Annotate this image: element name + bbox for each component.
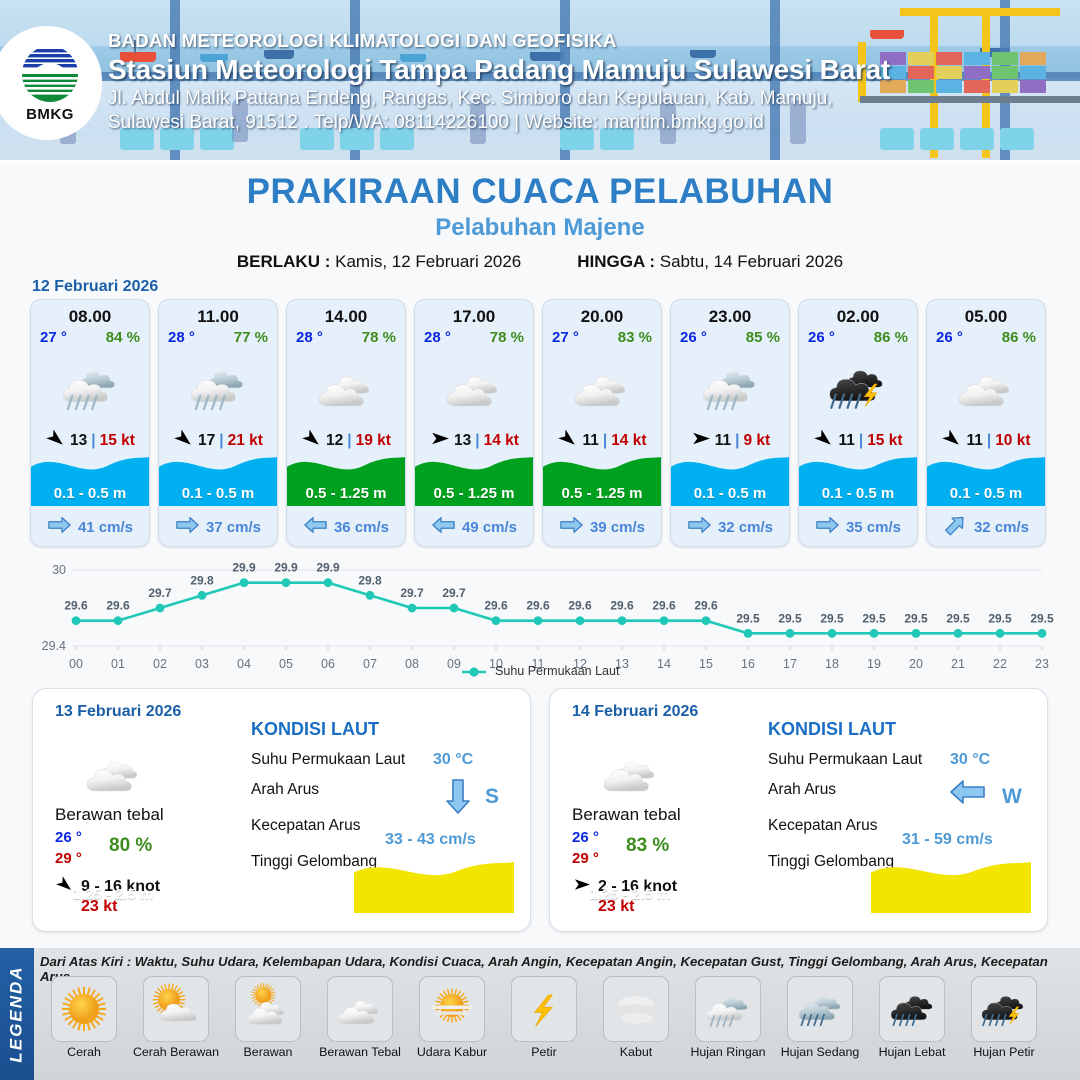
card-gust: 9 kt bbox=[744, 432, 771, 450]
svg-text:29.5: 29.5 bbox=[736, 611, 760, 625]
card-wind-separator: | bbox=[603, 432, 607, 450]
svg-text:29.6: 29.6 bbox=[106, 599, 130, 613]
legend-bar: LEGENDA Dari Atas Kiri : Waktu, Suhu Uda… bbox=[0, 948, 1080, 1080]
chart-legend-label: Suhu Permukaan Laut bbox=[495, 664, 619, 678]
svg-text:29.8: 29.8 bbox=[190, 573, 214, 587]
weather-cerah-icon bbox=[51, 976, 117, 1042]
validity-row: BERLAKU : Kamis, 12 Februari 2026 HINGGA… bbox=[0, 252, 1080, 272]
svg-text:29.5: 29.5 bbox=[988, 611, 1012, 625]
card-wave-height: 0.5 - 1.25 m bbox=[543, 485, 661, 502]
daily-wave-height: 1.25 - 2.5 m bbox=[550, 886, 710, 903]
forecast-card: 02.00 26 ° 86 % 11 | 15 kt 0.1 - 0.5 m 3… bbox=[798, 299, 918, 547]
card-wave-height: 0.1 - 0.5 m bbox=[927, 485, 1045, 502]
card-temperature: 27 ° bbox=[40, 329, 67, 346]
station-name: Stasiun Meteorologi Tampa Padang Mamuju … bbox=[108, 54, 1038, 86]
daily-temp-max: 29 ° bbox=[55, 850, 82, 867]
legend-item: Cerah bbox=[40, 976, 128, 1059]
svg-text:29.9: 29.9 bbox=[316, 561, 340, 575]
current-direction-icon bbox=[47, 516, 72, 538]
daily-wave-height: 1.25 - 2.5 m bbox=[33, 886, 193, 903]
legend-item-label: Hujan Ringan bbox=[684, 1045, 772, 1059]
forecast-card: 11.00 28 ° 77 % 17 | 21 kt 0.1 - 0.5 m 3… bbox=[158, 299, 278, 547]
svg-text:29.7: 29.7 bbox=[148, 586, 172, 600]
daily-row-value: 30 °C bbox=[950, 751, 990, 769]
card-wave-height: 0.5 - 1.25 m bbox=[287, 485, 405, 502]
page-header: BMKG BADAN METEOROLOGI KLIMATOLOGI DAN G… bbox=[0, 0, 1080, 160]
legend-item-label: Hujan Lebat bbox=[868, 1045, 956, 1059]
card-temperature: 26 ° bbox=[808, 329, 835, 346]
daily-condition: Berawan tebal bbox=[572, 805, 681, 825]
daily-row-value: W bbox=[1002, 785, 1022, 809]
card-current-speed: 49 cm/s bbox=[462, 519, 517, 536]
card-wind-separator: | bbox=[735, 432, 739, 450]
forecast-card: 14.00 28 ° 78 % 12 | 19 kt 0.5 - 1.25 m … bbox=[286, 299, 406, 547]
chart-legend-marker bbox=[461, 666, 487, 678]
card-temp-hum: 27 ° 84 % bbox=[31, 327, 149, 346]
legend-item: Hujan Lebat bbox=[868, 976, 956, 1059]
card-current-speed: 37 cm/s bbox=[206, 519, 261, 536]
valid-until-label: HINGGA : bbox=[577, 252, 655, 271]
svg-text:29.5: 29.5 bbox=[778, 611, 802, 625]
legend-item-label: Berawan Tebal bbox=[316, 1045, 404, 1059]
daily-row-value: S bbox=[485, 785, 499, 809]
weather-berawan-tebal-icon bbox=[927, 348, 1045, 426]
weather-hujan-petir-icon bbox=[971, 976, 1037, 1042]
current-direction-icon bbox=[950, 779, 986, 810]
card-current-speed: 32 cm/s bbox=[718, 519, 773, 536]
daily-forecast-card: 14 Februari 2026 Berawan tebal 26 ° 29 °… bbox=[549, 688, 1048, 932]
card-time: 17.00 bbox=[415, 307, 533, 327]
legend-item: Petir bbox=[500, 976, 588, 1059]
current-direction-icon bbox=[431, 516, 456, 538]
header-divider bbox=[0, 160, 1080, 163]
card-wave-height: 0.1 - 0.5 m bbox=[159, 485, 277, 502]
weather-hujan-sedang-icon bbox=[787, 976, 853, 1042]
card-wave-height: 0.1 - 0.5 m bbox=[799, 485, 917, 502]
svg-text:29.6: 29.6 bbox=[610, 599, 634, 613]
weather-petir-icon bbox=[511, 976, 577, 1042]
svg-text:29.5: 29.5 bbox=[862, 611, 886, 625]
svg-text:29.5: 29.5 bbox=[946, 611, 970, 625]
weather-berawan-icon bbox=[235, 976, 301, 1042]
daily-sea-title: KONDISI LAUT bbox=[768, 719, 896, 740]
card-current-row: 41 cm/s bbox=[31, 516, 149, 538]
card-current-row: 32 cm/s bbox=[927, 516, 1045, 538]
bmkg-logo-icon bbox=[19, 43, 81, 105]
card-gust: 15 kt bbox=[100, 432, 135, 450]
valid-until-value: Sabtu, 14 Februari 2026 bbox=[660, 252, 843, 271]
card-wind-speed: 12 bbox=[326, 432, 343, 450]
page-subtitle: Pelabuhan Majene bbox=[0, 214, 1080, 242]
legend-side-title-text: LEGENDA bbox=[7, 965, 27, 1062]
svg-text:29.6: 29.6 bbox=[568, 599, 592, 613]
legend-item: Hujan Ringan bbox=[684, 976, 772, 1059]
card-wind-speed: 13 bbox=[70, 432, 87, 450]
forecast-card: 05.00 26 ° 86 % 11 | 10 kt 0.1 - 0.5 m 3… bbox=[926, 299, 1046, 547]
daily-date: 14 Februari 2026 bbox=[572, 703, 698, 721]
legend-side-title: LEGENDA bbox=[0, 948, 34, 1080]
current-direction-icon bbox=[445, 779, 471, 820]
svg-text:29.5: 29.5 bbox=[820, 611, 844, 625]
daily-summary-list: 13 Februari 2026 Berawan tebal 26 ° 29 °… bbox=[32, 688, 1048, 932]
current-direction-icon bbox=[303, 516, 328, 538]
card-wave-height: 0.5 - 1.25 m bbox=[415, 485, 533, 502]
legend-item: Hujan Sedang bbox=[776, 976, 864, 1059]
legend-item-label: Udara Kabur bbox=[408, 1045, 496, 1059]
legend-item-label: Cerah bbox=[40, 1045, 128, 1059]
legend-item-label: Berawan bbox=[224, 1045, 312, 1059]
current-direction-icon bbox=[687, 516, 712, 538]
wave-graphic bbox=[354, 855, 514, 913]
valid-until: HINGGA : Sabtu, 14 Februari 2026 bbox=[577, 252, 843, 272]
title-block: PRAKIRAAN CUACA PELABUHAN Pelabuhan Maje… bbox=[0, 160, 1080, 272]
legend-item: Hujan Petir bbox=[960, 976, 1048, 1059]
wave-graphic bbox=[871, 855, 1031, 913]
card-temp-hum: 26 ° 86 % bbox=[799, 327, 917, 346]
card-humidity: 78 % bbox=[362, 329, 396, 346]
daily-date: 13 Februari 2026 bbox=[55, 703, 181, 721]
card-current-row: 39 cm/s bbox=[543, 516, 661, 538]
daily-row-label: Suhu Permukaan Laut bbox=[251, 751, 405, 769]
card-gust: 21 kt bbox=[228, 432, 263, 450]
card-current-speed: 32 cm/s bbox=[974, 519, 1029, 536]
card-wind-separator: | bbox=[219, 432, 223, 450]
daily-row-label: Kecepatan Arus bbox=[768, 817, 877, 835]
current-direction-icon bbox=[559, 516, 584, 538]
header-text-block: BADAN METEOROLOGI KLIMATOLOGI DAN GEOFIS… bbox=[108, 30, 1038, 135]
card-time: 23.00 bbox=[671, 307, 789, 327]
weather-berawan-tebal-icon bbox=[287, 348, 405, 426]
svg-text:29.6: 29.6 bbox=[526, 599, 550, 613]
legend-item: Udara Kabur bbox=[408, 976, 496, 1059]
card-temp-hum: 26 ° 85 % bbox=[671, 327, 789, 346]
card-wind-speed: 17 bbox=[198, 432, 215, 450]
card-wind-separator: | bbox=[91, 432, 95, 450]
card-current-row: 35 cm/s bbox=[799, 516, 917, 538]
card-temp-hum: 26 ° 86 % bbox=[927, 327, 1045, 346]
card-humidity: 86 % bbox=[874, 329, 908, 346]
weather-hujan-ringan-icon bbox=[671, 348, 789, 426]
daily-row-label: Arah Arus bbox=[251, 781, 319, 799]
daily-sea-title: KONDISI LAUT bbox=[251, 719, 379, 740]
card-wind-separator: | bbox=[475, 432, 479, 450]
weather-berawan-tebal-icon bbox=[543, 348, 661, 426]
card-gust: 14 kt bbox=[484, 432, 519, 450]
legend-item-list: Cerah Cerah Berawan Berawan Berawan Teba… bbox=[40, 976, 1076, 1059]
svg-text:29.6: 29.6 bbox=[694, 599, 718, 613]
card-temperature: 27 ° bbox=[552, 329, 579, 346]
legend-item-label: Hujan Petir bbox=[960, 1045, 1048, 1059]
card-temperature: 26 ° bbox=[936, 329, 963, 346]
card-gust: 10 kt bbox=[995, 432, 1030, 450]
weather-kabut-icon bbox=[603, 976, 669, 1042]
page-title: PRAKIRAAN CUACA PELABUHAN bbox=[0, 172, 1080, 212]
current-direction-icon bbox=[943, 516, 968, 538]
daily-temp-min: 26 ° bbox=[572, 829, 599, 846]
weather-cerah-berawan-icon bbox=[143, 976, 209, 1042]
forecast-card: 17.00 28 ° 78 % 13 | 14 kt 0.5 - 1.25 m … bbox=[414, 299, 534, 547]
forecast-card: 23.00 26 ° 85 % 11 | 9 kt 0.1 - 0.5 m 32… bbox=[670, 299, 790, 547]
card-temp-hum: 27 ° 83 % bbox=[543, 327, 661, 346]
bmkg-logo: BMKG bbox=[0, 26, 102, 140]
card-temperature: 28 ° bbox=[424, 329, 451, 346]
card-gust: 15 kt bbox=[867, 432, 902, 450]
daily-condition: Berawan tebal bbox=[55, 805, 164, 825]
weather-berawan-tebal-icon bbox=[77, 735, 151, 814]
card-temp-hum: 28 ° 78 % bbox=[415, 327, 533, 346]
svg-text:29.6: 29.6 bbox=[652, 599, 676, 613]
weather-berawan-tebal-icon bbox=[594, 735, 668, 814]
bmkg-logo-text: BMKG bbox=[26, 106, 74, 123]
daily-forecast-card: 13 Februari 2026 Berawan tebal 26 ° 29 °… bbox=[32, 688, 531, 932]
card-wave-height: 0.1 - 0.5 m bbox=[31, 485, 149, 502]
daily-temp-max: 29 ° bbox=[572, 850, 599, 867]
card-temp-hum: 28 ° 78 % bbox=[287, 327, 405, 346]
card-current-speed: 35 cm/s bbox=[846, 519, 901, 536]
forecast-card: 20.00 27 ° 83 % 11 | 14 kt 0.5 - 1.25 m … bbox=[542, 299, 662, 547]
weather-hujan-petir-icon bbox=[799, 348, 917, 426]
card-current-speed: 41 cm/s bbox=[78, 519, 133, 536]
legend-item: Berawan Tebal bbox=[316, 976, 404, 1059]
svg-text:29.7: 29.7 bbox=[400, 586, 424, 600]
card-current-row: 36 cm/s bbox=[287, 516, 405, 538]
valid-from-label: BERLAKU : bbox=[237, 252, 331, 271]
daily-row-label: Suhu Permukaan Laut bbox=[768, 751, 922, 769]
card-humidity: 85 % bbox=[746, 329, 780, 346]
card-wind-speed: 11 bbox=[966, 432, 982, 450]
card-current-row: 32 cm/s bbox=[671, 516, 789, 538]
svg-text:29.7: 29.7 bbox=[442, 586, 466, 600]
weather-hujan-lebat-icon bbox=[879, 976, 945, 1042]
svg-text:29.9: 29.9 bbox=[274, 561, 298, 575]
card-wind-separator: | bbox=[987, 432, 991, 450]
daily-row-value: 31 - 59 cm/s bbox=[902, 831, 993, 849]
legend-item-label: Petir bbox=[500, 1045, 588, 1059]
card-time: 05.00 bbox=[927, 307, 1045, 327]
current-direction-icon bbox=[175, 516, 200, 538]
address-line-1: Jl. Abdul Malik Pattana Endeng, Rangas, … bbox=[108, 88, 1038, 110]
card-time: 08.00 bbox=[31, 307, 149, 327]
card-wind-speed: 11 bbox=[715, 432, 731, 450]
daily-humidity: 80 % bbox=[109, 835, 152, 857]
svg-text:29.8: 29.8 bbox=[358, 573, 382, 587]
legend-item: Cerah Berawan bbox=[132, 976, 220, 1059]
forecast-card: 08.00 27 ° 84 % 13 | 15 kt 0.1 - 0.5 m 4… bbox=[30, 299, 150, 547]
card-time: 02.00 bbox=[799, 307, 917, 327]
card-time: 20.00 bbox=[543, 307, 661, 327]
weather-hujan-ringan-icon bbox=[159, 348, 277, 426]
legend-item-label: Cerah Berawan bbox=[132, 1045, 220, 1059]
weather-hujan-ringan-icon bbox=[31, 348, 149, 426]
card-current-speed: 36 cm/s bbox=[334, 519, 389, 536]
card-gust: 19 kt bbox=[356, 432, 391, 450]
card-wind-separator: | bbox=[859, 432, 863, 450]
card-wind-speed: 11 bbox=[838, 432, 854, 450]
legend-item: Kabut bbox=[592, 976, 680, 1059]
address-line-2: Sulawesi Barat, 91512 . Telp/WA: 0811422… bbox=[108, 112, 1038, 134]
svg-text:29.5: 29.5 bbox=[904, 611, 928, 625]
card-humidity: 77 % bbox=[234, 329, 268, 346]
weather-berawan-tebal-icon bbox=[415, 348, 533, 426]
card-wind-speed: 11 bbox=[582, 432, 598, 450]
card-wind-speed: 13 bbox=[454, 432, 471, 450]
svg-text:29.6: 29.6 bbox=[484, 599, 508, 613]
valid-from-value: Kamis, 12 Februari 2026 bbox=[335, 252, 521, 271]
card-temp-hum: 28 ° 77 % bbox=[159, 327, 277, 346]
card-humidity: 84 % bbox=[106, 329, 140, 346]
legend-item-label: Kabut bbox=[592, 1045, 680, 1059]
card-current-speed: 39 cm/s bbox=[590, 519, 645, 536]
weather-udara-kabur-icon bbox=[419, 976, 485, 1042]
daily-row-label: Arah Arus bbox=[768, 781, 836, 799]
svg-text:29.5: 29.5 bbox=[1030, 611, 1054, 625]
forecast-date-label: 12 Februari 2026 bbox=[32, 278, 158, 296]
daily-temp-min: 26 ° bbox=[55, 829, 82, 846]
card-temperature: 26 ° bbox=[680, 329, 707, 346]
card-humidity: 78 % bbox=[490, 329, 524, 346]
weather-berawan-tebal-icon bbox=[327, 976, 393, 1042]
agency-name: BADAN METEOROLOGI KLIMATOLOGI DAN GEOFIS… bbox=[108, 30, 1038, 52]
crane-icon bbox=[900, 8, 1060, 16]
card-current-row: 37 cm/s bbox=[159, 516, 277, 538]
card-humidity: 83 % bbox=[618, 329, 652, 346]
card-temperature: 28 ° bbox=[168, 329, 195, 346]
card-humidity: 86 % bbox=[1002, 329, 1036, 346]
svg-text:30: 30 bbox=[52, 563, 66, 577]
valid-from: BERLAKU : Kamis, 12 Februari 2026 bbox=[237, 252, 521, 272]
card-gust: 14 kt bbox=[611, 432, 646, 450]
svg-text:29.6: 29.6 bbox=[64, 599, 88, 613]
card-time: 14.00 bbox=[287, 307, 405, 327]
svg-text:29.4: 29.4 bbox=[42, 639, 66, 653]
daily-humidity: 83 % bbox=[626, 835, 669, 857]
card-current-row: 49 cm/s bbox=[415, 516, 533, 538]
card-time: 11.00 bbox=[159, 307, 277, 327]
chart-legend: Suhu Permukaan Laut bbox=[0, 664, 1080, 678]
weather-hujan-ringan-icon bbox=[695, 976, 761, 1042]
current-direction-icon bbox=[815, 516, 840, 538]
forecast-card-list: 08.00 27 ° 84 % 13 | 15 kt 0.1 - 0.5 m 4… bbox=[30, 299, 1052, 547]
legend-item-label: Hujan Sedang bbox=[776, 1045, 864, 1059]
daily-row-label: Kecepatan Arus bbox=[251, 817, 360, 835]
daily-row-value: 33 - 43 cm/s bbox=[385, 831, 476, 849]
card-temperature: 28 ° bbox=[296, 329, 323, 346]
daily-row-value: 30 °C bbox=[433, 751, 473, 769]
svg-text:29.9: 29.9 bbox=[232, 561, 256, 575]
legend-item: Berawan bbox=[224, 976, 312, 1059]
card-wind-separator: | bbox=[347, 432, 351, 450]
card-wave-height: 0.1 - 0.5 m bbox=[671, 485, 789, 502]
